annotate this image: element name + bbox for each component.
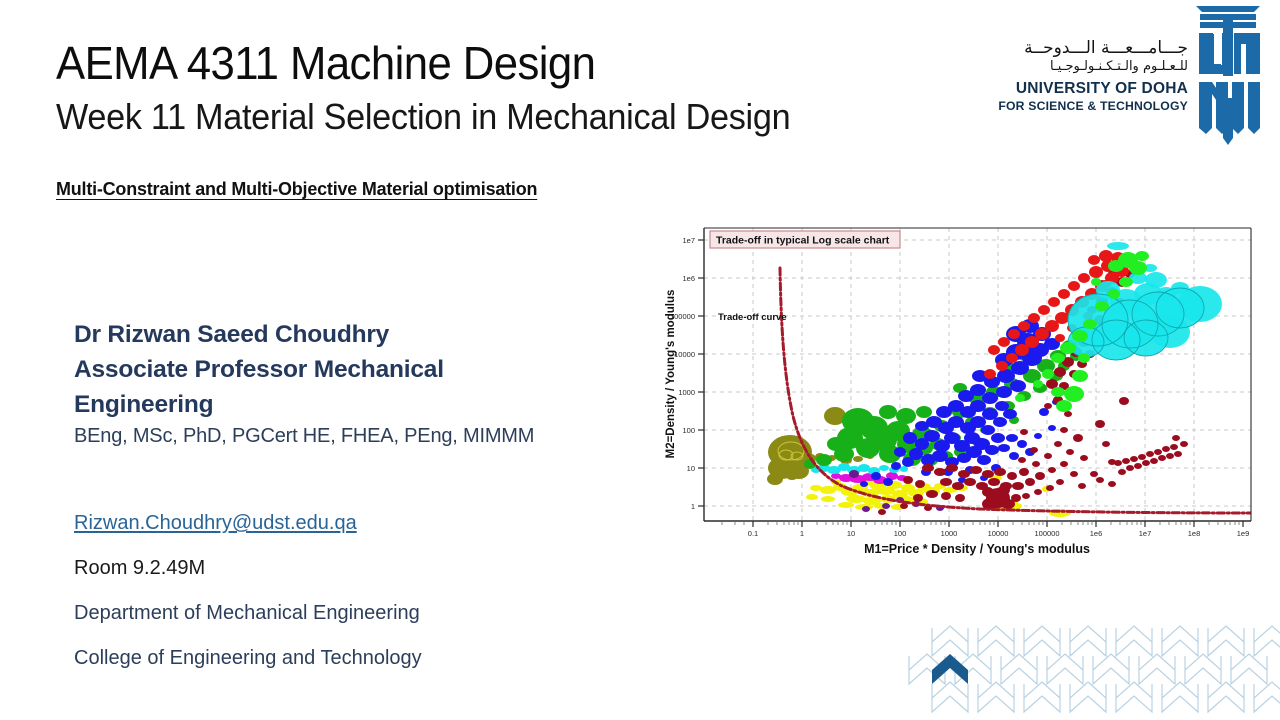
svg-text:10: 10: [847, 529, 855, 538]
udst-monogram-icon: [1190, 2, 1266, 147]
department-name: Department of Mechanical Engineering: [74, 602, 634, 624]
svg-text:100000: 100000: [1034, 529, 1059, 538]
svg-text:1: 1: [800, 529, 804, 538]
logo-text-block: جـــامـــعـــة الـــدوحــة للـعـلـوم وال…: [998, 38, 1188, 113]
svg-text:10000: 10000: [674, 350, 695, 359]
presenter-name-line-3: Engineering: [74, 388, 614, 423]
svg-text:1000: 1000: [941, 529, 958, 538]
slide-root: AEMA 4311 Machine Design Week 11 Materia…: [0, 0, 1280, 720]
svg-text:1: 1: [691, 502, 695, 511]
svg-text:0.1: 0.1: [748, 529, 758, 538]
tradeoff-curve-annotation: Trade-off curve: [718, 312, 787, 323]
svg-text:100: 100: [894, 529, 907, 538]
college-name: College of Engineering and Technology: [74, 647, 634, 669]
chevron-lattice-pattern: [900, 608, 1280, 720]
presenter-block: Dr Rizwan Saeed Choudhry Associate Profe…: [74, 318, 614, 448]
svg-text:1e6: 1e6: [682, 274, 695, 283]
chart-title-text: Trade-off in typical Log scale chart: [716, 235, 890, 247]
university-logo: جـــامـــعـــة الـــدوحــة للـعـلـوم وال…: [988, 0, 1280, 152]
contact-block: Rizwan.Choudhry@udst.edu.qa Room 9.2.49M…: [74, 512, 634, 669]
chart-title-box: Trade-off in typical Log scale chart: [710, 231, 900, 248]
x-axis-ticks: [753, 521, 1243, 527]
logo-english-line-2: FOR SCIENCE & TECHNOLOGY: [998, 99, 1188, 113]
presenter-qualifications: BEng, MSc, PhD, PGCert HE, FHEA, PEng, M…: [74, 425, 614, 448]
logo-arabic-line-2: للـعـلـوم والـتـكـنـولـوجـيـا: [998, 59, 1188, 76]
svg-text:1e8: 1e8: [1188, 529, 1201, 538]
logo-arabic-line-1: جـــامـــعـــة الـــدوحــة: [998, 38, 1188, 59]
svg-text:10: 10: [687, 464, 695, 473]
page-subtitle: Week 11 Material Selection in Mechanical…: [56, 96, 790, 138]
x-axis-tick-labels: 0.1 1 10 100 1000 10000 100000 1e6 1e7 1…: [748, 529, 1249, 538]
logo-english-line-1: UNIVERSITY OF DOHA: [998, 80, 1188, 98]
svg-text:1e6: 1e6: [1090, 529, 1103, 538]
pattern-accent-chevron: [932, 654, 968, 684]
presenter-name-line-2: Associate Professor Mechanical: [74, 353, 614, 388]
y-axis-ticks: [698, 240, 704, 506]
page-title: AEMA 4311 Machine Design: [56, 36, 595, 90]
tradeoff-chart: 0.1 1 10 100 1000 10000 100000 1e6 1e7 1…: [660, 216, 1278, 556]
y-axis-title: M2=Density / Young's modulus: [665, 290, 677, 459]
topic-heading: Multi-Constraint and Multi-Objective Mat…: [56, 178, 537, 200]
svg-text:10000: 10000: [988, 529, 1009, 538]
x-axis-title: M1=Price * Density / Young's modulus: [864, 542, 1090, 556]
svg-text:1e9: 1e9: [1237, 529, 1250, 538]
email-link[interactable]: Rizwan.Choudhry@udst.edu.qa: [74, 512, 357, 534]
svg-text:1e7: 1e7: [682, 236, 695, 245]
room-number: Room 9.2.49M: [74, 557, 634, 579]
svg-text:1e7: 1e7: [1139, 529, 1152, 538]
presenter-name-line-1: Dr Rizwan Saeed Choudhry: [74, 318, 614, 353]
svg-text:1000: 1000: [678, 388, 695, 397]
svg-text:100: 100: [682, 426, 695, 435]
